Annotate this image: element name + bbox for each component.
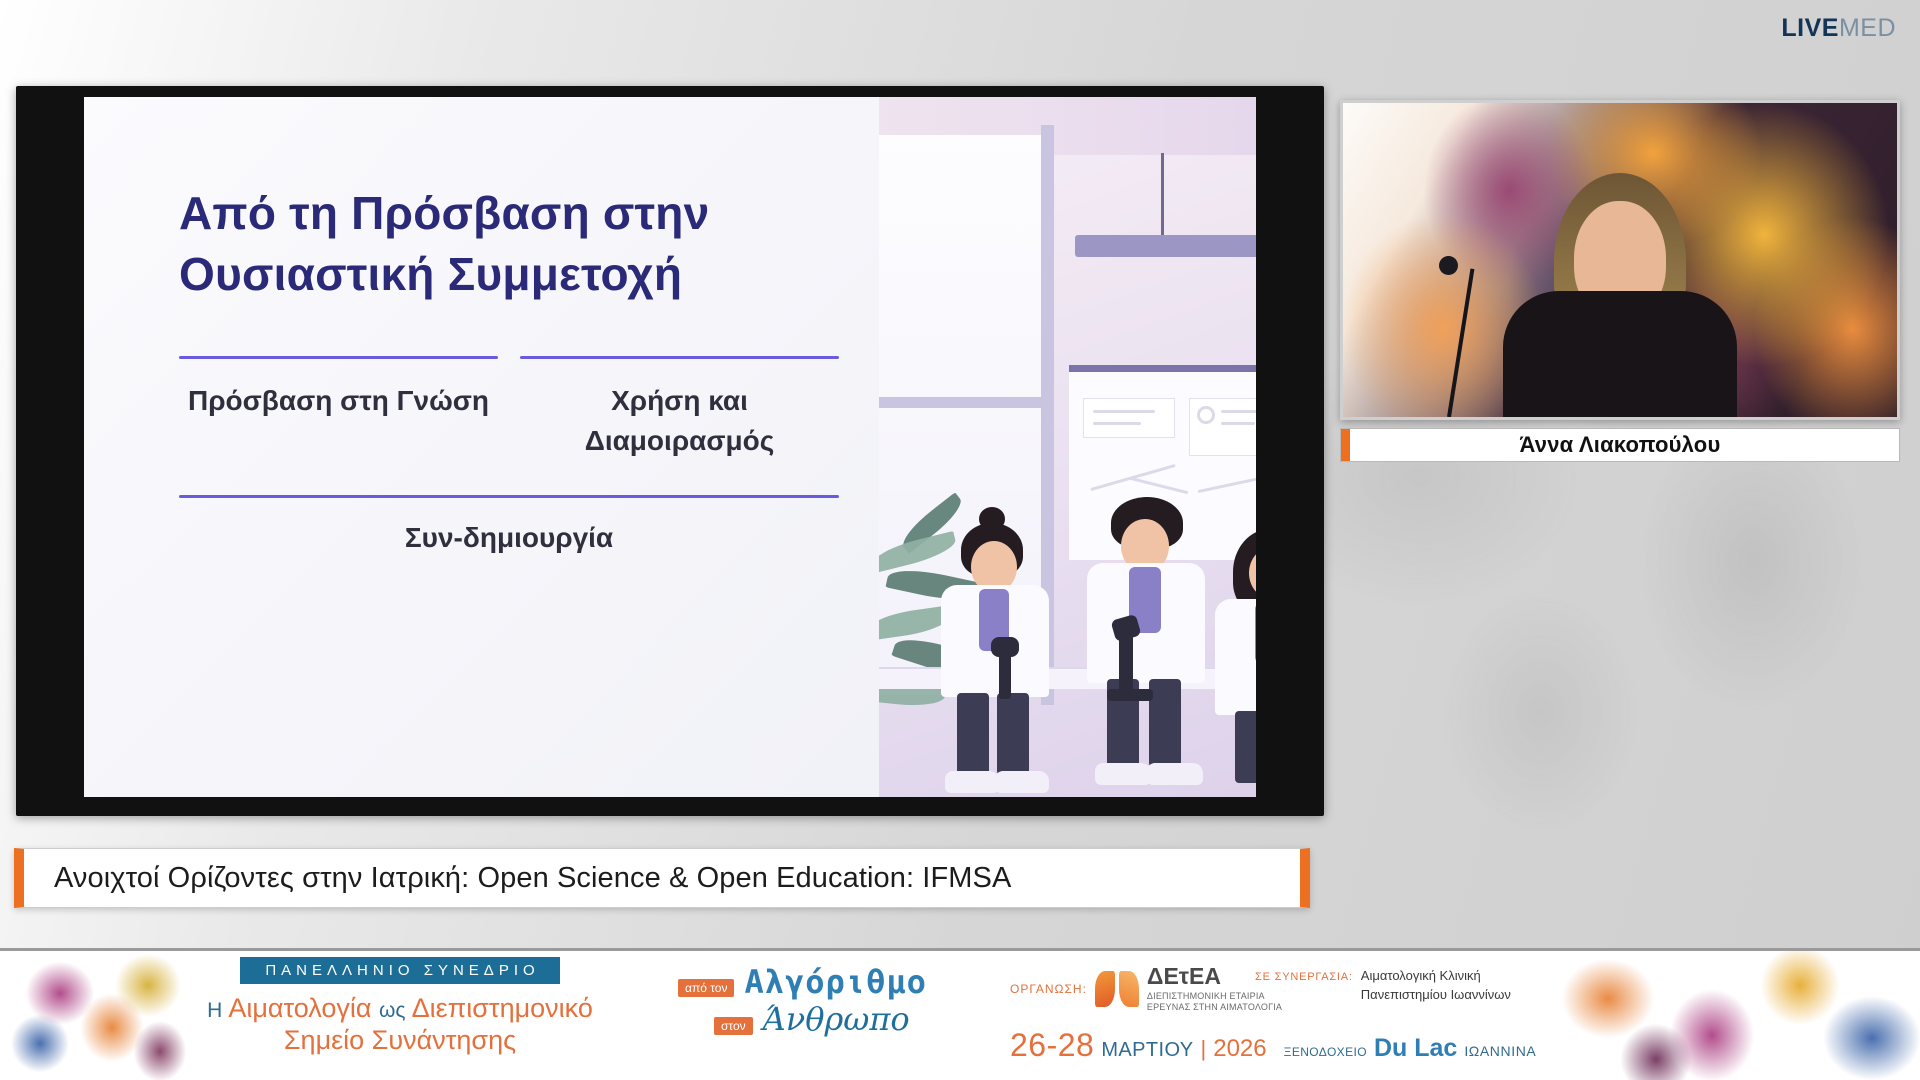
footer-cooperation-label: ΣΕ ΣΥΝΕΡΓΑΣΙΑ: — [1255, 971, 1353, 983]
footer-cooperation-block: ΣΕ ΣΥΝΕΡΓΑΣΙΑ: Αιματολογική Κλινική Πανε… — [1255, 967, 1511, 1005]
conference-footer-banner: ΠΑΝΕΛΛΗΝΙΟ ΣΥΝΕΔΡΙΟ Η Αιματολογία ως Διε… — [0, 948, 1920, 1080]
footer-kicker: ΠΑΝΕΛΛΗΝΙΟ ΣΥΝΕΔΡΙΟ — [240, 957, 559, 984]
slide-viewer[interactable]: Από τη Πρόσβαση στην Ουσιαστική Συμμετοχ… — [16, 86, 1324, 816]
slide-column-1: Πρόσβαση στη Γνώση — [179, 356, 498, 461]
footer-headline: Η Αιματολογία ως Διεπιστημονικό Σημείο Σ… — [200, 993, 600, 1057]
footer-organizer-block: ΟΡΓΑΝΩΣΗ: ΔΕτΕΑ ΔΙΕΠΙΣΤΗΜΟΝΙΚΗ ΕΤΑΙΡΙΑ Ε… — [1010, 965, 1282, 1014]
footer-headline-main: Αιματολογία — [228, 993, 371, 1023]
divider-rule — [179, 495, 839, 498]
slide-title: Από τη Πρόσβαση στην Ουσιαστική Συμμετοχ… — [179, 183, 779, 304]
livemed-logo: LIVEMED — [1781, 16, 1896, 41]
footer-hotel-name: Du Lac — [1374, 1034, 1457, 1063]
footer-headline-end: Διεπιστημονικό — [412, 993, 593, 1023]
footer-hotel-label: ΞΕΝΟΔΟΧΕΙΟ — [1284, 1045, 1367, 1059]
slide-column-2: Χρήση και Διαμοιρασμός — [520, 356, 839, 461]
footer-art-left — [0, 951, 200, 1080]
footer-date-separator: | — [1201, 1036, 1207, 1062]
detea-logo-icon — [1095, 969, 1139, 1009]
speaker-body — [1503, 291, 1737, 417]
footer-cooperation-name-2: Πανεπιστημίου Ιωαννίνων — [1361, 986, 1511, 1005]
footer-date-month: ΜΑΡΤΙΟΥ — [1101, 1039, 1193, 1062]
logo-med-text: MED — [1839, 14, 1896, 42]
slide-text-panel: Από τη Πρόσβαση στην Ουσιαστική Συμμετοχ… — [84, 97, 879, 797]
slide-illustration — [879, 97, 1256, 797]
slide-column-1-label: Πρόσβαση στη Γνώση — [179, 381, 498, 421]
footer-algo-row: από τον Αλγόριθμο — [678, 967, 978, 997]
footer-conference-title-block: ΠΑΝΕΛΛΗΝΙΟ ΣΥΝΕΔΡΙΟ Η Αιματολογία ως Διε… — [200, 957, 600, 1057]
session-title-bar: Ανοιχτοί Ορίζοντες στην Ιατρική: Open Sc… — [14, 848, 1310, 908]
slide-column-2-label: Χρήση και Διαμοιρασμός — [520, 381, 839, 461]
footer-date-venue-block: 26-28 ΜΑΡΤΙΟΥ | 2026 ΞΕΝΟΔΟΧΕΙΟ Du Lac Ι… — [1010, 1027, 1536, 1064]
lab-scene-illustration — [879, 97, 1256, 797]
divider-rule — [520, 356, 839, 359]
slide-columns: Πρόσβαση στη Γνώση Χρήση και Διαμοιρασμό… — [179, 356, 839, 461]
divider-rule — [179, 356, 498, 359]
footer-organizer-label: ΟΡΓΑΝΩΣΗ: — [1010, 982, 1087, 996]
slide-content: Από τη Πρόσβαση στην Ουσιαστική Συμμετοχ… — [84, 97, 1256, 797]
speaker-name: Άννα Λιακοπούλου — [1350, 432, 1899, 458]
footer-cooperation-names: Αιματολογική Κλινική Πανεπιστημίου Ιωανν… — [1361, 967, 1511, 1005]
footer-date-year: 2026 — [1213, 1035, 1266, 1063]
footer-cooperation-name-1: Αιματολογική Κλινική — [1361, 967, 1511, 986]
slide-full-row-label: Συν-δημιουργία — [179, 518, 839, 558]
footer-tag-from: από τον — [678, 979, 734, 997]
session-title: Ανοιχτοί Ορίζοντες στην Ιατρική: Open Sc… — [54, 862, 1011, 895]
speaker-video-tile[interactable] — [1340, 100, 1900, 420]
slide-full-row: Συν-δημιουργία — [179, 495, 839, 558]
footer-human-row: στον Άνθρωπο — [678, 1003, 978, 1035]
footer-algorithm-block: από τον Αλγόριθμο στον Άνθρωπο — [678, 967, 978, 1035]
footer-headline-line2: Σημείο Συνάντησης — [200, 1025, 600, 1057]
footer-headline-article: Η — [207, 999, 222, 1022]
footer-date-days: 26-28 — [1010, 1027, 1094, 1064]
footer-headline-mid: ως — [379, 999, 406, 1022]
microphone-icon — [1439, 256, 1458, 275]
footer-algo-word: Αλγόριθμο — [744, 967, 926, 997]
speaker-accent-bar — [1341, 429, 1350, 461]
logo-live-text: LIVE — [1781, 14, 1839, 42]
speaker-name-plate: Άννα Λιακοπούλου — [1340, 428, 1900, 462]
footer-art-right — [1520, 951, 1920, 1080]
footer-city: ΙΩΑΝΝΙΝΑ — [1464, 1043, 1536, 1059]
footer-human-word: Άνθρωπο — [763, 1003, 910, 1035]
footer-tag-to: στον — [714, 1017, 753, 1035]
